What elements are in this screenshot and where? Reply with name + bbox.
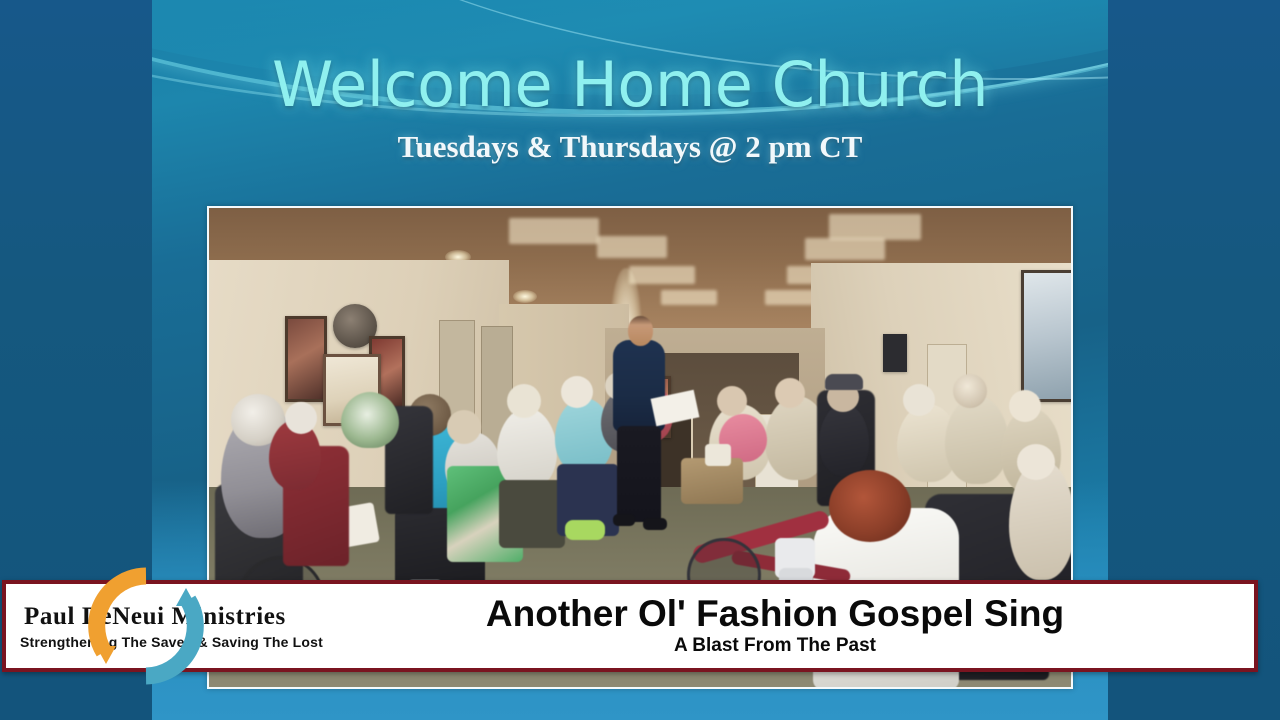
schedule-subtitle: Tuesdays & Thursdays @ 2 pm CT	[152, 129, 1108, 165]
ceiling-beam	[829, 214, 921, 240]
person-head	[775, 378, 805, 408]
wall-speaker-icon	[883, 334, 907, 372]
ceiling-beam	[629, 266, 695, 284]
cap	[825, 374, 863, 390]
speaker-legs	[617, 426, 661, 522]
ceiling-beam	[661, 290, 717, 305]
ministry-name: Paul DeNeui Ministries	[24, 603, 326, 631]
speaker-head	[628, 316, 653, 346]
ceiling-beam	[597, 236, 667, 258]
recessed-light	[513, 290, 537, 303]
person-head	[953, 374, 987, 408]
seated-person-legs	[499, 480, 565, 548]
seated-person	[945, 396, 1009, 484]
person-head	[829, 470, 911, 542]
shoe	[643, 518, 667, 530]
framed-art	[1021, 270, 1071, 402]
shoe	[613, 514, 635, 526]
page-title: Welcome Home Church	[152, 52, 1108, 117]
person-head	[447, 410, 481, 444]
person-head	[903, 384, 935, 416]
lower-third-banner: Paul DeNeui Ministries Strengthening The…	[2, 580, 1258, 672]
event-title: Another Ol' Fashion Gospel Sing	[326, 595, 1224, 633]
plant	[341, 392, 399, 448]
ceiling-beam	[509, 218, 599, 244]
event-title-block: Another Ol' Fashion Gospel Sing A Blast …	[326, 595, 1254, 657]
slide-heading: Welcome Home Church Tuesdays & Thursdays…	[152, 52, 1108, 165]
person-head	[717, 386, 747, 416]
framed-art	[285, 316, 327, 402]
person-head	[285, 402, 317, 434]
person-head	[561, 376, 593, 408]
seated-person	[497, 408, 557, 490]
person-head	[507, 384, 541, 418]
ceiling-beam	[805, 238, 885, 260]
event-subtitle: A Blast From The Past	[326, 635, 1224, 657]
ministry-logo-block: Paul DeNeui Ministries Strengthening The…	[6, 584, 326, 668]
object-on-table	[705, 444, 731, 466]
person-head	[1009, 390, 1041, 422]
seated-person	[819, 404, 869, 476]
ministry-tagline: Strengthening The Saved & Saving The Los…	[20, 634, 326, 650]
person-head	[1017, 444, 1055, 480]
shoe	[565, 520, 605, 540]
video-frame: Welcome Home Church Tuesdays & Thursdays…	[0, 0, 1280, 720]
